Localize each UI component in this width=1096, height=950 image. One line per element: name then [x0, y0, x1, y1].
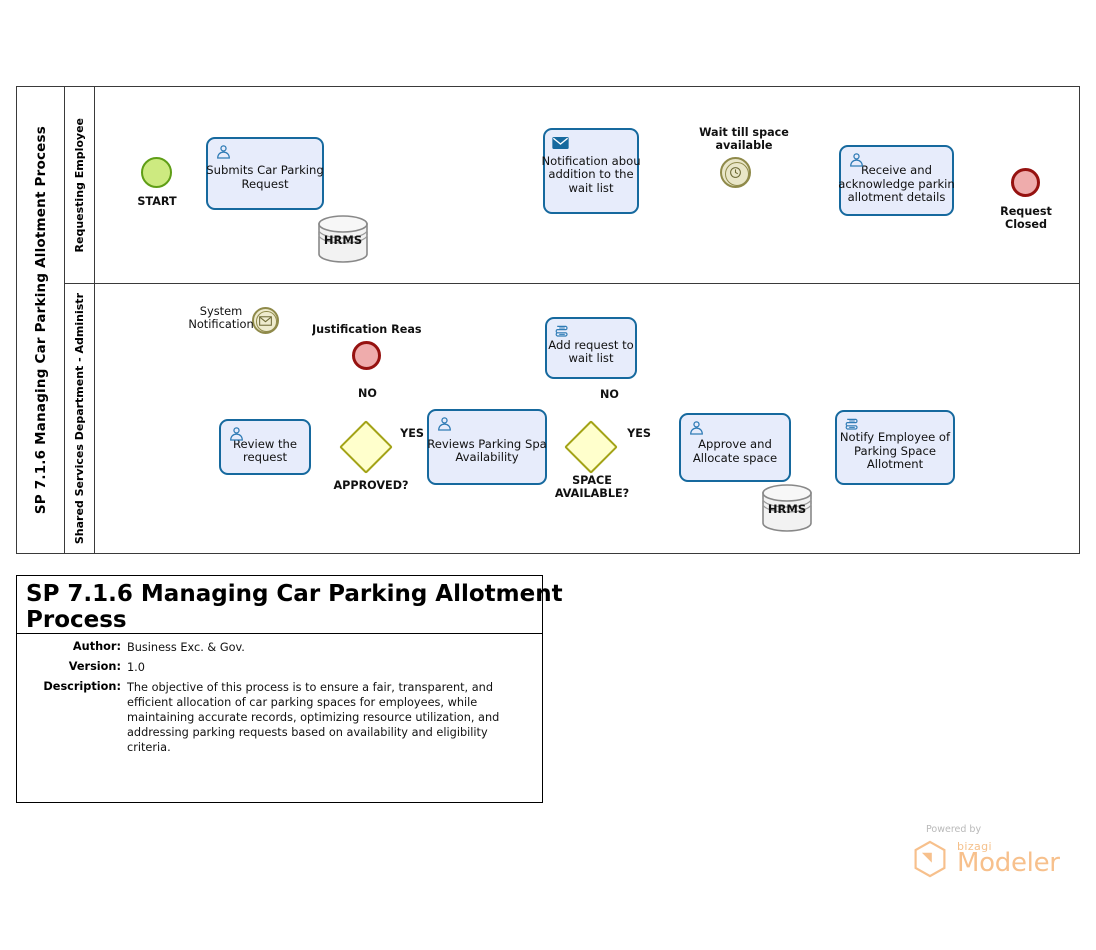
- end-event-request-closed-label: Request Closed: [985, 205, 1067, 231]
- info-label-author: Author:: [17, 640, 127, 653]
- timer-event-label: Wait till space available: [684, 126, 804, 152]
- info-value-version: 1.0: [127, 660, 145, 675]
- data-store-hrms-1-label: HRMS: [317, 234, 369, 247]
- gateway-space-label: SPACE AVAILABLE?: [537, 474, 647, 500]
- pool-title-text: SP 7.1.6 Managing Car Parking Allotment …: [33, 126, 49, 514]
- end-event-justification-reason[interactable]: [352, 341, 381, 370]
- script-task-icon: [844, 417, 861, 434]
- end-event-request-closed[interactable]: [1011, 168, 1040, 197]
- info-row-description: Description: The objective of this proce…: [17, 680, 542, 755]
- info-panel-title-row: SP 7.1.6 Managing Car Parking Allotment …: [17, 576, 542, 634]
- message-task-icon: [552, 135, 569, 152]
- task-receive-acknowledge[interactable]: Receive and acknowledge parkin allotment…: [839, 145, 954, 216]
- task-notify-employee[interactable]: Notify Employee of Parking Space Allotme…: [835, 410, 955, 485]
- message-event-envelope: [259, 316, 272, 326]
- start-event-circle[interactable]: [141, 157, 172, 188]
- task-waitlist-notification-label: Notification abou addition to the wait l…: [541, 147, 640, 196]
- powered-by-label: Powered by: [926, 824, 981, 835]
- lane-header-requesting-employee: Requesting Employee: [65, 87, 95, 283]
- lane-label-shared-services: Shared Services Department - Administr: [73, 293, 86, 544]
- task-reviews-availability[interactable]: Reviews Parking Spa Availability: [427, 409, 547, 485]
- timer-event-clock: [729, 166, 742, 179]
- message-event-label: System Notification: [182, 305, 260, 331]
- bizagi-hexagon-icon: [912, 840, 948, 878]
- info-label-version: Version:: [17, 660, 127, 673]
- end-event-justification-label: Justification Reaso: [312, 323, 422, 336]
- script-task-icon: [554, 324, 571, 341]
- info-value-author: Business Exc. & Gov.: [127, 640, 245, 655]
- info-panel-rows: Author: Business Exc. & Gov. Version: 1.…: [17, 640, 542, 760]
- task-approve-allocate-label: Approve and Allocate space: [693, 430, 777, 465]
- pool-title: SP 7.1.6 Managing Car Parking Allotment …: [17, 87, 65, 553]
- lane-label-requesting-employee: Requesting Employee: [73, 118, 86, 252]
- process-info-panel: SP 7.1.6 Managing Car Parking Allotment …: [16, 575, 543, 803]
- flow-label-space-no: NO: [600, 388, 636, 401]
- flow-label-space-yes: YES: [621, 427, 657, 440]
- task-approve-allocate[interactable]: Approve and Allocate space: [679, 413, 791, 482]
- info-label-description: Description:: [17, 680, 127, 693]
- task-submits-car-parking-request[interactable]: Submits Car Parking Request: [206, 137, 324, 210]
- start-event-label: START: [116, 195, 198, 208]
- lane-header-shared-services: Shared Services Department - Administr: [65, 284, 95, 553]
- task-review-request[interactable]: Review the request: [219, 419, 311, 475]
- user-task-icon: [688, 420, 705, 437]
- info-value-description: The objective of this process is to ensu…: [127, 680, 509, 755]
- data-store-hrms-2-label: HRMS: [761, 503, 813, 516]
- task-waitlist-notification[interactable]: Notification abou addition to the wait l…: [543, 128, 639, 214]
- info-row-author: Author: Business Exc. & Gov.: [17, 640, 542, 655]
- task-submits-label: Submits Car Parking Request: [206, 156, 324, 191]
- info-row-version: Version: 1.0: [17, 660, 542, 675]
- modeler-wordmark: Modeler: [957, 848, 1060, 878]
- user-task-icon: [228, 426, 245, 443]
- task-add-to-waitlist[interactable]: Add request to wait list: [545, 317, 637, 379]
- info-panel-title: SP 7.1.6 Managing Car Parking Allotment …: [26, 581, 726, 633]
- task-reviews-availability-label: Reviews Parking Spa Availability: [427, 430, 547, 465]
- timer-intermediate-event[interactable]: [720, 157, 751, 188]
- user-task-icon: [436, 416, 453, 433]
- gateway-approved-label: APPROVED?: [316, 479, 426, 492]
- flow-label-approved-no: NO: [358, 387, 402, 400]
- flow-label-approved-yes: YES: [394, 427, 430, 440]
- bizagi-modeler-logo: Powered by bizagi Modeler: [912, 824, 1052, 882]
- user-task-icon: [215, 144, 232, 161]
- user-task-icon: [848, 152, 865, 169]
